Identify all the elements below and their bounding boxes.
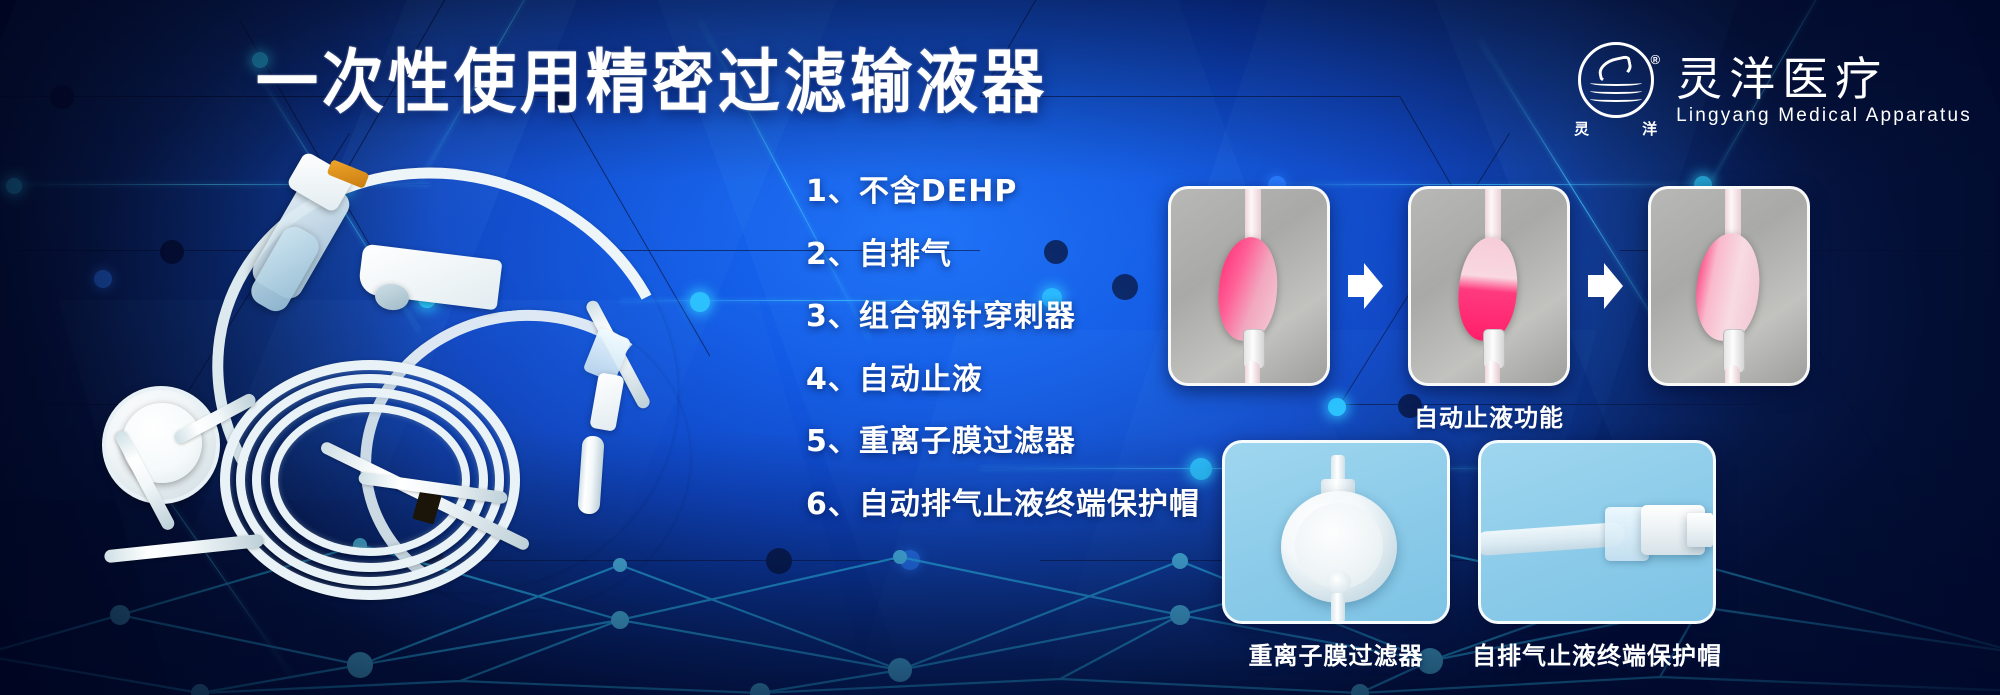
registered-mark: ® bbox=[1650, 52, 1660, 67]
page-title: 一次性使用精密过滤输液器 bbox=[256, 48, 1048, 117]
feature-item-1: 1、不含DEHP bbox=[806, 172, 1200, 213]
photo-card-autostop-step-3 bbox=[1648, 186, 1810, 386]
right-arrow-icon-2 bbox=[1588, 263, 1622, 309]
logo-sub-char-left: 灵 bbox=[1574, 118, 1590, 139]
caption-autostop-function: 自动止液功能 bbox=[1168, 398, 1810, 433]
caption-terminal-protective-cap: 自排气止液终端保护帽 bbox=[1458, 636, 1736, 671]
brand-name-cn: 灵洋医疗 bbox=[1676, 56, 1972, 102]
logo-emblem-icon: ® 灵 洋 bbox=[1574, 42, 1658, 138]
feature-item-3: 3、组合钢针穿刺器 bbox=[806, 297, 1200, 338]
right-arrow-icon-1 bbox=[1348, 263, 1382, 309]
caption-heavy-ion-filter: 重离子膜过滤器 bbox=[1222, 636, 1450, 671]
feature-item-4: 4、自动止液 bbox=[806, 360, 1200, 401]
logo-sub-char-right: 洋 bbox=[1642, 118, 1658, 139]
brand-name-en: Lingyang Medical Apparatus bbox=[1676, 106, 1972, 125]
product-banner: 一次性使用精密过滤输液器 ® 灵 洋 灵洋医疗 Lingyang Medical… bbox=[0, 0, 2000, 695]
photo-card-autostop-step-2 bbox=[1408, 186, 1570, 386]
photo-card-terminal-protective-cap bbox=[1478, 440, 1716, 624]
feature-item-2: 2、自排气 bbox=[806, 235, 1200, 276]
photo-card-heavy-ion-filter bbox=[1222, 440, 1450, 624]
brand-logo: ® 灵 洋 灵洋医疗 Lingyang Medical Apparatus bbox=[1574, 42, 1972, 138]
feature-item-6: 6、自动排气止液终端保护帽 bbox=[806, 485, 1200, 526]
feature-list: 1、不含DEHP 2、自排气 3、组合钢针穿刺器 4、自动止液 5、重离子膜过滤… bbox=[806, 172, 1200, 525]
product-photo-infusion-set bbox=[60, 160, 700, 560]
photo-card-autostop-step-1 bbox=[1168, 186, 1330, 386]
feature-item-5: 5、重离子膜过滤器 bbox=[806, 422, 1200, 463]
